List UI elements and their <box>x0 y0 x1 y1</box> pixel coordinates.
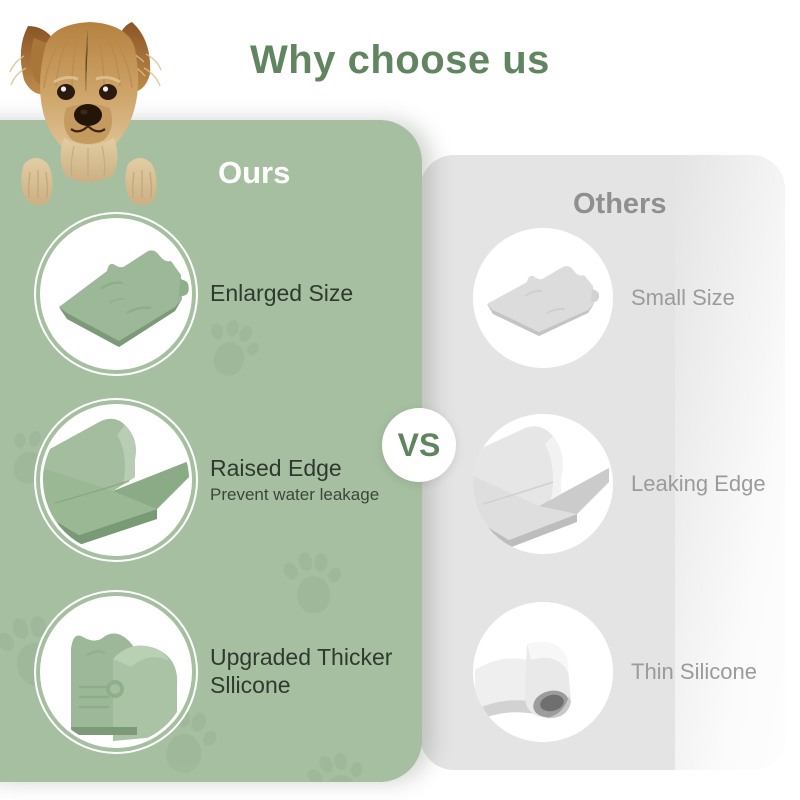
green-raised-edge-photo <box>40 404 192 556</box>
ours-feature-text-1: Enlarged Size <box>210 280 353 308</box>
ours-header: Ours <box>218 155 290 191</box>
others-feature-label-3: Thin Silicone <box>631 659 757 685</box>
others-feature-label-1: Small Size <box>631 285 735 311</box>
ours-feature-sub-3: Sllicone <box>210 672 392 700</box>
others-feature-row-1: Small Size <box>473 228 735 368</box>
ours-feature-sub-2: Prevent water leakage <box>210 484 379 505</box>
ours-feature-row-2: Raised Edge Prevent water leakage <box>40 404 379 556</box>
small-flat-mat-illustration <box>473 228 613 368</box>
others-feature-text-3: Thin Silicone <box>631 659 757 685</box>
others-feature-text-2: Leaking Edge <box>631 471 766 497</box>
ours-feature-text-2: Raised Edge Prevent water leakage <box>210 455 379 505</box>
flat-mat-illustration <box>43 221 192 370</box>
gray-flat-edge-photo <box>473 414 613 554</box>
others-feature-text-1: Small Size <box>631 285 735 311</box>
others-feature-row-3: Thin Silicone <box>473 602 757 742</box>
green-cat-mat-flat-photo <box>40 218 192 370</box>
ours-feature-row-3: Upgraded Thicker Sllicone <box>40 596 392 748</box>
infographic-page: Why choose us Ours Others <box>0 0 800 800</box>
ours-feature-row-1: Enlarged Size <box>40 218 353 370</box>
others-feature-row-2: Leaking Edge <box>473 414 766 554</box>
green-thick-mat-stack-photo <box>40 596 192 748</box>
rolled-mat-illustration <box>473 602 613 742</box>
others-header: Others <box>573 188 666 221</box>
gray-rolled-mat-photo <box>473 602 613 742</box>
ours-feature-text-3: Upgraded Thicker Sllicone <box>210 644 392 699</box>
ours-feature-label-3: Upgraded Thicker <box>210 644 392 672</box>
yorkshire-terrier-photo <box>0 0 204 211</box>
leaking-edge-illustration <box>473 414 613 554</box>
others-feature-label-2: Leaking Edge <box>631 471 766 497</box>
ours-feature-label-1: Enlarged Size <box>210 280 353 308</box>
thick-mat-illustration <box>43 599 192 748</box>
gray-cat-mat-flat-photo <box>473 228 613 368</box>
raised-edge-illustration <box>43 407 192 556</box>
ours-feature-label-2: Raised Edge <box>210 455 379 483</box>
vs-badge: VS <box>382 408 456 482</box>
